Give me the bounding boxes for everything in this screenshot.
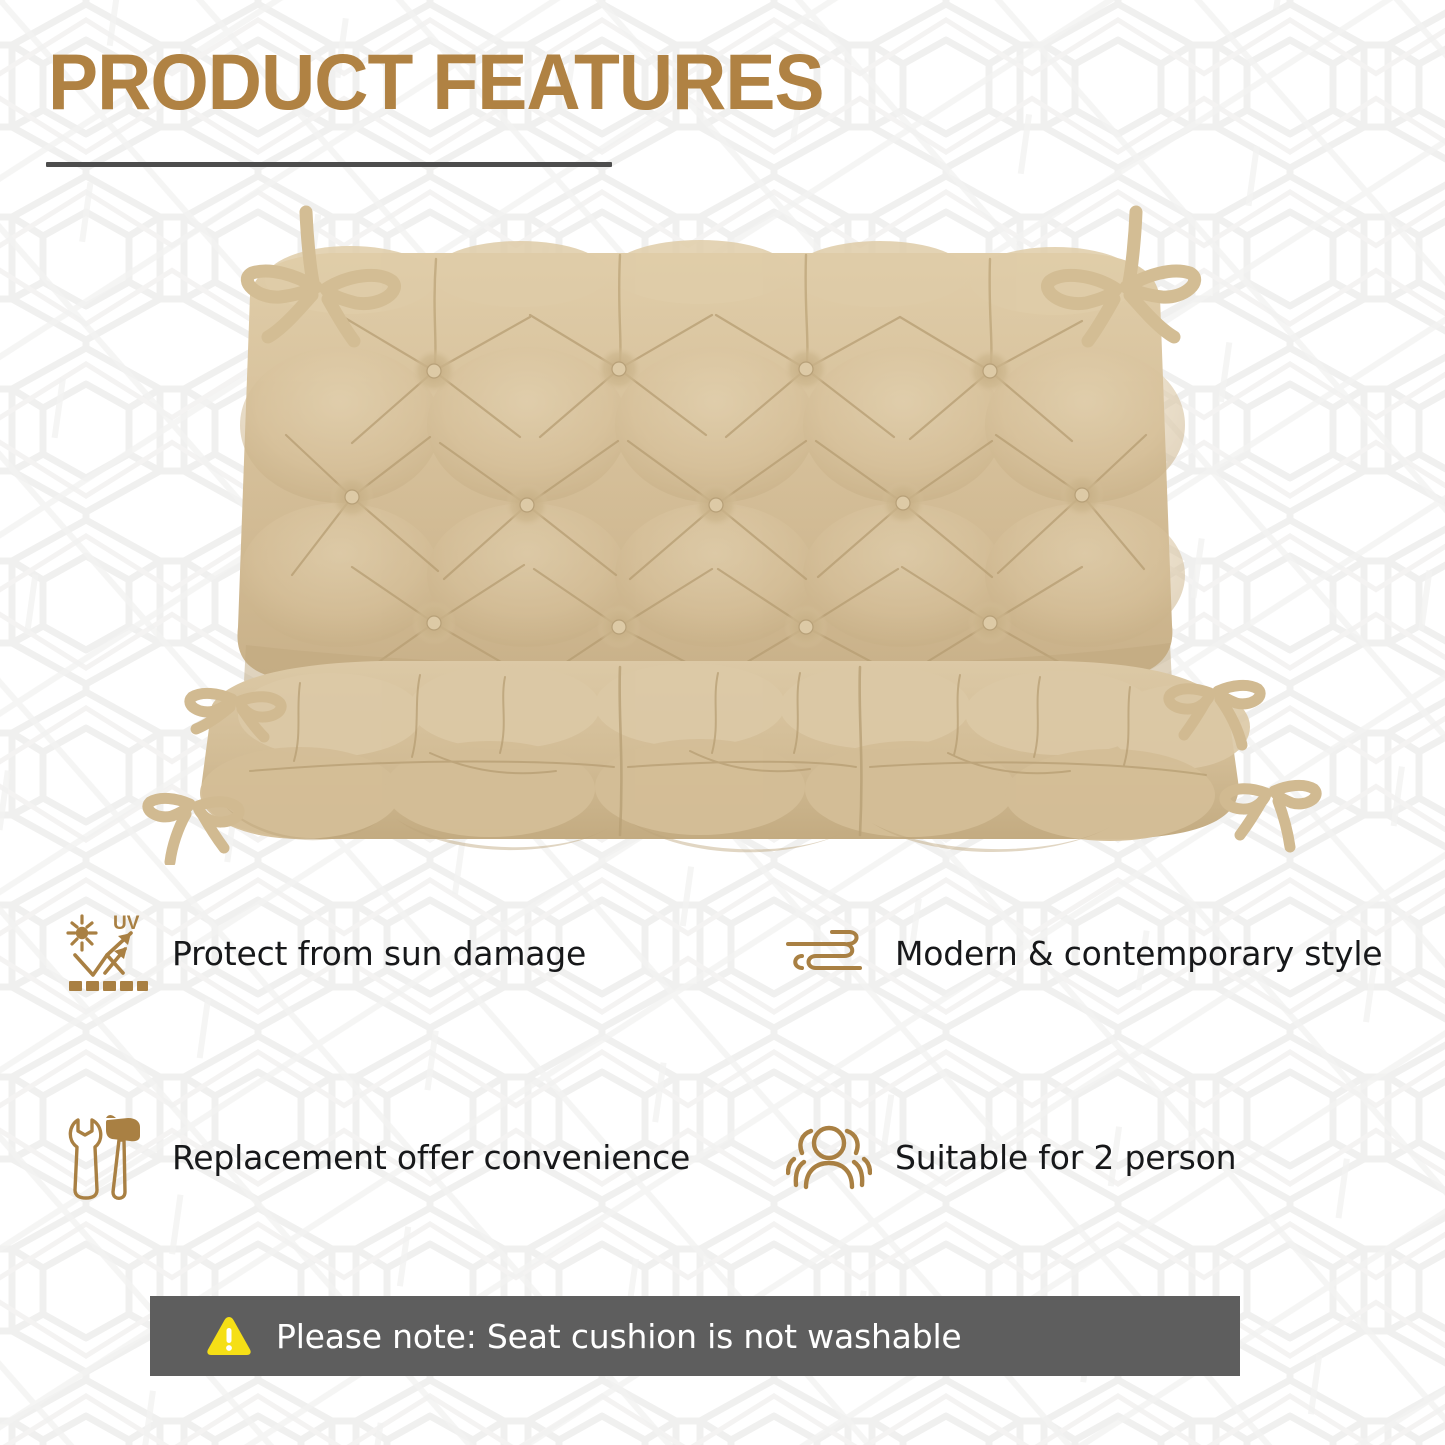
feature-label-modern-style: Modern & contemporary style (895, 934, 1382, 973)
product-image (0, 175, 1445, 865)
wrench-hammer-tools-icon (58, 1109, 154, 1205)
feature-list: UV (46, 905, 1406, 1205)
feature-row-2: Replacement offer convenience (46, 1109, 1406, 1205)
feature-sun-protection: UV (46, 905, 781, 1001)
feature-replacement-convenience: Replacement offer convenience (46, 1109, 781, 1205)
note-banner-text: Please note: Seat cushion is not washabl… (276, 1317, 962, 1356)
title-underline-rule (46, 162, 612, 167)
feature-two-person: Suitable for 2 person (781, 1109, 1406, 1205)
note-banner: Please note: Seat cushion is not washabl… (150, 1296, 1240, 1376)
warning-triangle-icon (206, 1313, 252, 1359)
cushion-backrest (237, 240, 1185, 707)
feature-row-1: UV (46, 905, 1406, 1001)
modern-wave-style-icon (781, 905, 877, 1001)
svg-text:UV: UV (113, 913, 140, 934)
cushion-seat (200, 661, 1250, 852)
feature-modern-style: Modern & contemporary style (781, 905, 1406, 1001)
product-features-page: PRODUCT FEATURES (0, 0, 1445, 1445)
uv-sun-protection-icon: UV (58, 905, 154, 1001)
feature-label-sun-protection: Protect from sun damage (172, 934, 586, 973)
feature-label-replacement-convenience: Replacement offer convenience (172, 1138, 690, 1177)
page-title: PRODUCT FEATURES (48, 42, 824, 121)
two-people-group-icon (781, 1109, 877, 1205)
feature-row-spacer (46, 1001, 1406, 1109)
feature-label-two-person: Suitable for 2 person (895, 1138, 1236, 1177)
